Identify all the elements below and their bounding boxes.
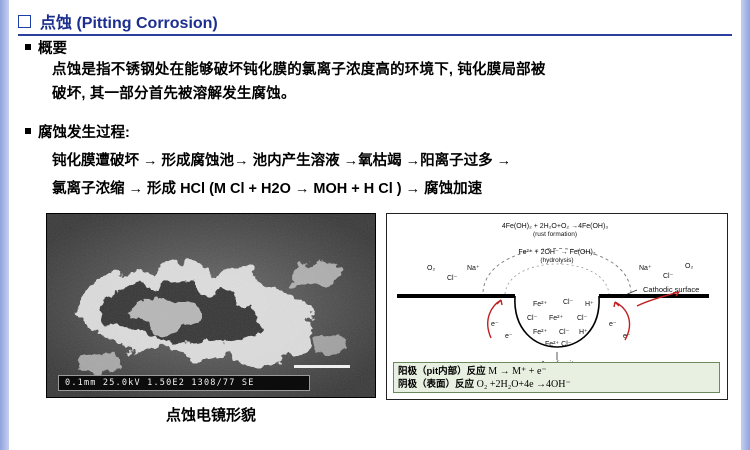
svg-text:Cl⁻: Cl⁻ (577, 315, 588, 322)
cathodic-reaction-label: 阴极（表面）反应 (398, 379, 474, 390)
overview-paragraph-line-2: 破坏, 其一部分首先被溶解发生腐蚀。 (52, 84, 712, 105)
svg-text:e⁻: e⁻ (609, 321, 617, 328)
sem-scale-bar (294, 365, 350, 368)
svg-text:Na⁺: Na⁺ (639, 265, 652, 272)
square-outline-icon (18, 15, 31, 28)
svg-text:Cl⁻: Cl⁻ (563, 299, 574, 306)
svg-text:H⁺: H⁺ (579, 329, 588, 336)
anodic-reaction-label: 阳极（pit内部）反应 (398, 366, 486, 377)
section-heading-overview: 概要 (38, 37, 67, 58)
anodic-reaction-equation: M → M⁺ + e⁻ (488, 366, 546, 377)
left-decor-bar (0, 0, 9, 450)
sem-micrograph-image: 0.1mm 25.0kV 1.50E2 1308/77 SE (46, 213, 376, 398)
svg-text:Na⁺: Na⁺ (467, 265, 480, 272)
slide-title-row: 点蚀 (Pitting Corrosion) (18, 8, 732, 34)
slide-root: 点蚀 (Pitting Corrosion) 概要 点蚀是指不锈钢处在能够破坏钝… (0, 0, 750, 450)
overview-paragraph-line-1: 点蚀是指不锈钢处在能够破坏钝化膜的氯离子浓度高的环境下, 钝化膜局部被 (52, 60, 712, 81)
svg-text:O₂: O₂ (427, 265, 435, 272)
svg-text:O₂: O₂ (685, 263, 693, 270)
bullet-icon-process (25, 128, 31, 134)
svg-text:Fe²⁺ + 2OH⁻ → Fe(OH)₂: Fe²⁺ + 2OH⁻ → Fe(OH)₂ (518, 249, 595, 256)
right-decor-bar (741, 0, 750, 450)
svg-text:(rust formation): (rust formation) (533, 231, 577, 238)
svg-text:Fe²⁺: Fe²⁺ (533, 329, 548, 336)
svg-text:Cl⁻: Cl⁻ (527, 315, 538, 322)
page-title: 点蚀 (Pitting Corrosion) (40, 9, 218, 33)
svg-text:H⁺: H⁺ (585, 301, 594, 308)
bullet-icon-overview (25, 44, 31, 50)
svg-text:4Fe(OH)₂ + 2H₂O+O₂ →4Fe(OH)₃: 4Fe(OH)₂ + 2H₂O+O₂ →4Fe(OH)₃ (502, 223, 608, 230)
svg-text:Fe²⁺ Cl⁻: Fe²⁺ Cl⁻ (545, 341, 572, 348)
sem-image-caption: 点蚀电镜形貌 (46, 404, 376, 425)
sem-info-bar: 0.1mm 25.0kV 1.50E2 1308/77 SE (58, 375, 310, 391)
sem-micrograph-graphic (46, 213, 376, 398)
process-line-2: 氯离子浓缩 → 形成 HCl (M Cl + H2O → MOH + H Cl … (52, 176, 482, 202)
svg-text:Cl⁻: Cl⁻ (559, 329, 570, 336)
cathodic-reaction-equation: O₂ +2H₂O+4e →4OH⁻ (477, 379, 571, 390)
svg-text:Cathodic surface: Cathodic surface (643, 285, 699, 294)
svg-text:(hydrolysis): (hydrolysis) (540, 257, 573, 264)
svg-text:Fe²⁺: Fe²⁺ (549, 315, 564, 322)
title-divider (18, 34, 732, 36)
svg-text:e⁻: e⁻ (491, 321, 499, 328)
svg-text:e⁻: e⁻ (505, 333, 513, 340)
anodic-reaction-line: 阳极（pit内部）反应 M → M⁺ + e⁻ (398, 365, 715, 378)
svg-text:Cl⁻: Cl⁻ (663, 273, 674, 280)
reaction-annotation-box: 阳极（pit内部）反应 M → M⁺ + e⁻ 阴极（表面）反应 O₂ +2H₂… (393, 362, 720, 393)
svg-text:Fe²⁺: Fe²⁺ (533, 301, 548, 308)
cathodic-reaction-line: 阴极（表面）反应 O₂ +2H₂O+4e →4OH⁻ (398, 378, 715, 391)
svg-text:Cl⁻: Cl⁻ (447, 275, 458, 282)
section-heading-process: 腐蚀发生过程: (38, 121, 130, 142)
process-line-1: 钝化膜遭破坏 → 形成腐蚀池→ 池内产生溶液 →氧枯竭 →阳离子过多 → (52, 148, 511, 174)
